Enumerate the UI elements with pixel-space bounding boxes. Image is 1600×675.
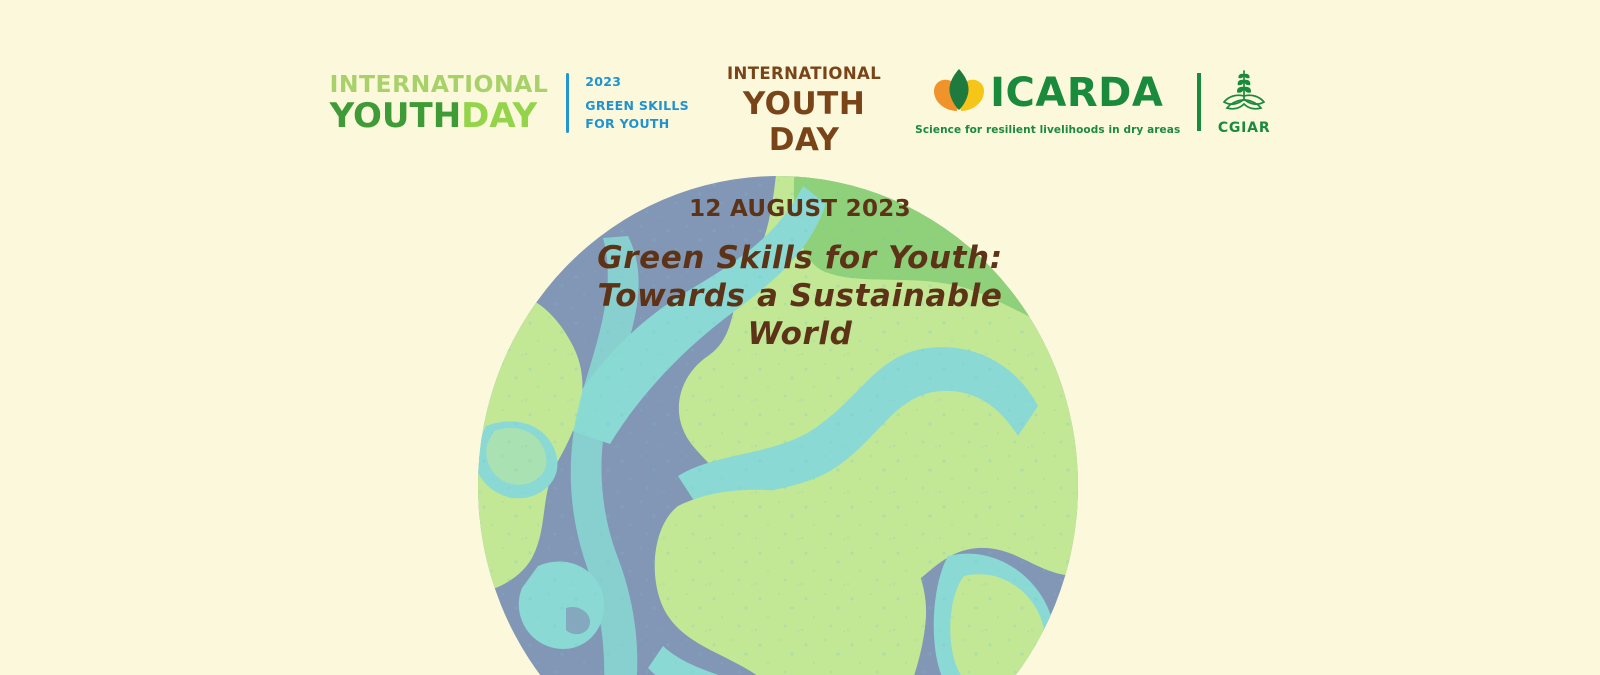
- international-youth-day-wordmark: INTERNATIONAL YOUTHDAY 2023 GREEN SKILLS…: [330, 64, 689, 142]
- iyd-divider: [566, 73, 569, 133]
- icarda-tagline: Science for resilient livelihoods in dry…: [915, 124, 1180, 136]
- brown-line-international: INTERNATIONAL: [727, 66, 881, 83]
- icarda-leaf-icon: [932, 69, 986, 118]
- international-youth-day-banner: 12 AUGUST 2023 Green Skills for Youth: T…: [0, 0, 1600, 675]
- icarda-logo-row: ICARDA: [932, 69, 1163, 118]
- iyd-theme-line2: FOR YOUTH: [585, 115, 689, 133]
- globe-texture-overlay: [478, 176, 1078, 675]
- icarda-cgiar-lockup: ICARDA Science for resilient livelihoods…: [915, 68, 1270, 136]
- brown-line-youth: YOUTH: [727, 89, 881, 120]
- cgiar-wordmark: CGIAR: [1218, 120, 1271, 136]
- cgiar-wheat-icon: [1219, 68, 1269, 117]
- iyd-line-youthday: YOUTHDAY: [330, 99, 537, 133]
- iyd-line-international: INTERNATIONAL: [330, 73, 549, 97]
- iyd-word-day: DAY: [461, 99, 537, 133]
- brown-line-day: DAY: [727, 125, 881, 156]
- icarda-logo: ICARDA Science for resilient livelihoods…: [915, 69, 1180, 136]
- earth-globe-illustration: [478, 176, 1078, 675]
- logo-strip: INTERNATIONAL YOUTHDAY 2023 GREEN SKILLS…: [0, 52, 1600, 152]
- cgiar-logo: CGIAR: [1218, 68, 1271, 136]
- globe-body: [478, 176, 1078, 675]
- icarda-cgiar-divider: [1197, 73, 1201, 131]
- iyd-wordmark-text: INTERNATIONAL YOUTHDAY: [330, 73, 549, 133]
- iyd-word-youth: YOUTH: [330, 99, 462, 133]
- iyd-theme-text: 2023 GREEN SKILLS FOR YOUTH: [585, 73, 689, 132]
- iyd-theme-year: 2023: [585, 73, 689, 91]
- iyd-theme-line1: GREEN SKILLS: [585, 97, 689, 115]
- icarda-wordmark: ICARDA: [990, 73, 1163, 113]
- international-youth-day-brown: INTERNATIONAL YOUTH DAY: [727, 66, 881, 156]
